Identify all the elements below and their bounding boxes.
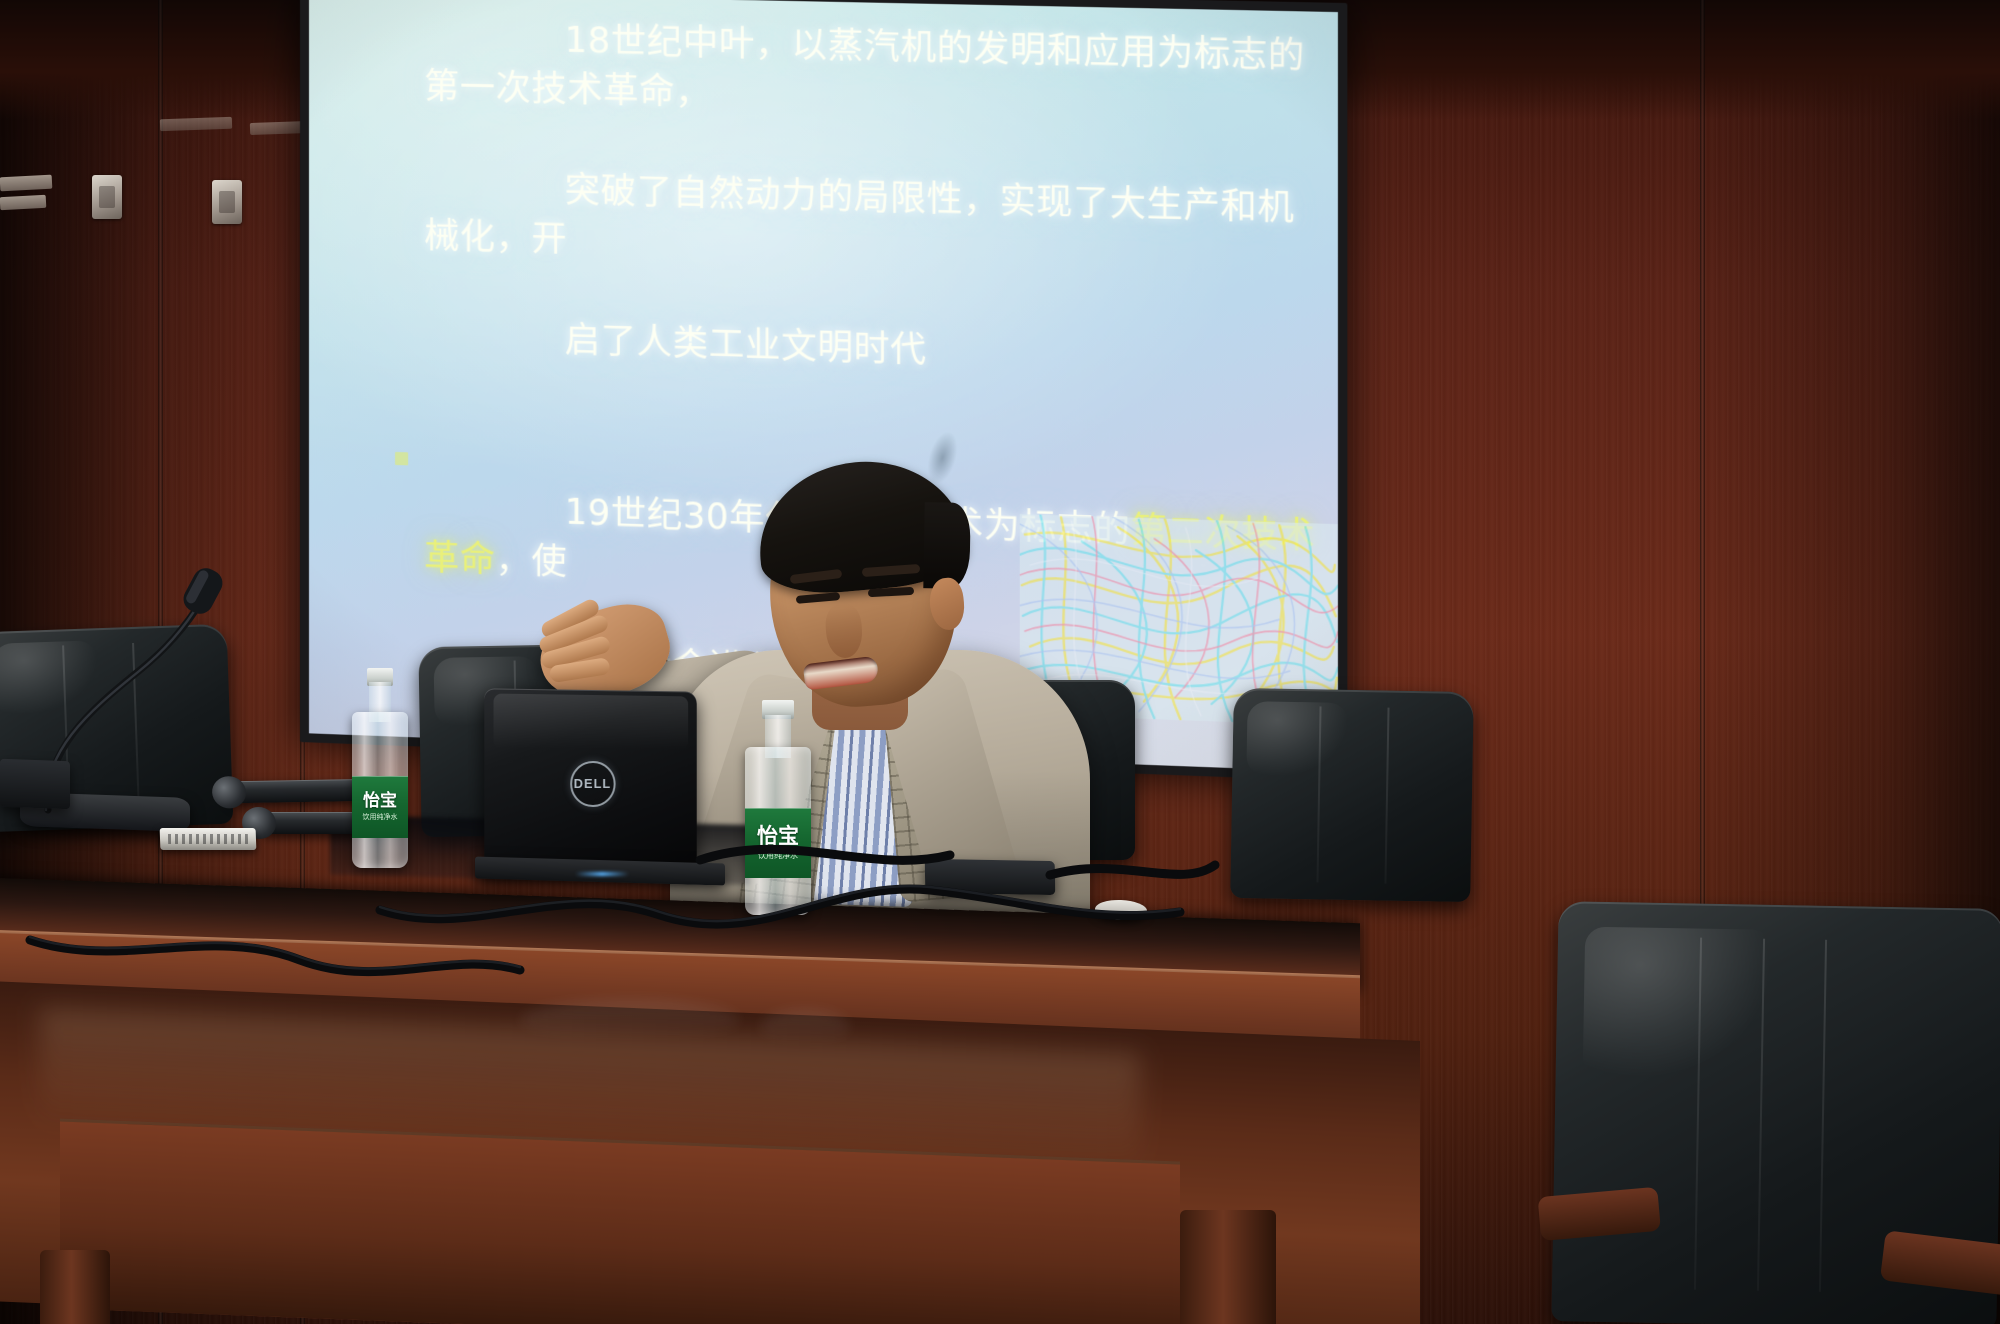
white-remote-control[interactable]: [160, 828, 257, 850]
lecture-room-photo: 18世纪中叶，以蒸汽机的发明和应用为标志的第一次技术革命， 突破了自然动力的局限…: [0, 0, 2000, 1324]
wall-slat-2: [0, 195, 46, 210]
laptop-lid-sheen: [493, 694, 688, 750]
laptop-led-indicator: [575, 872, 629, 876]
chair-highlight: [1582, 927, 1772, 1081]
water-bottle-back[interactable]: 怡宝 饮用纯净水: [352, 668, 408, 868]
dell-logo-icon: DELL: [570, 761, 615, 807]
audio-device-box: [0, 759, 70, 809]
water-bottle-front[interactable]: 怡宝 饮用纯净水: [745, 700, 811, 915]
bottle-label: 怡宝 饮用纯净水: [745, 808, 811, 878]
chair-center-far-right: [1230, 688, 1474, 902]
wall-plate-3: [0, 175, 52, 192]
wall-plate-1: [92, 175, 122, 219]
table-leg-right: [1180, 1210, 1276, 1324]
bottle-label: 怡宝 饮用纯净水: [352, 776, 408, 838]
bottle-reflection: [760, 1010, 850, 1044]
dell-laptop[interactable]: DELL: [484, 688, 696, 871]
bullet-1-text: 18世纪中叶，以蒸汽机的发明和应用为标志的第一次技术革命， 突破了自然动力的局限…: [424, 0, 1317, 439]
laptop-reflection: [520, 1000, 740, 1040]
wall-slat-4: [160, 117, 232, 132]
wall-plate-2: [212, 180, 242, 224]
bullet-marker-icon: [395, 452, 408, 465]
table-leg-left: [40, 1250, 110, 1324]
chair-right: [1551, 901, 2000, 1324]
chair-highlight: [1247, 701, 1349, 778]
presenter-hair: [753, 453, 969, 598]
power-strip[interactable]: [925, 859, 1056, 895]
slide-bullet-1: 18世纪中叶，以蒸汽机的发明和应用为标志的第一次技术革命， 突破了自然动力的局限…: [395, 0, 1317, 439]
